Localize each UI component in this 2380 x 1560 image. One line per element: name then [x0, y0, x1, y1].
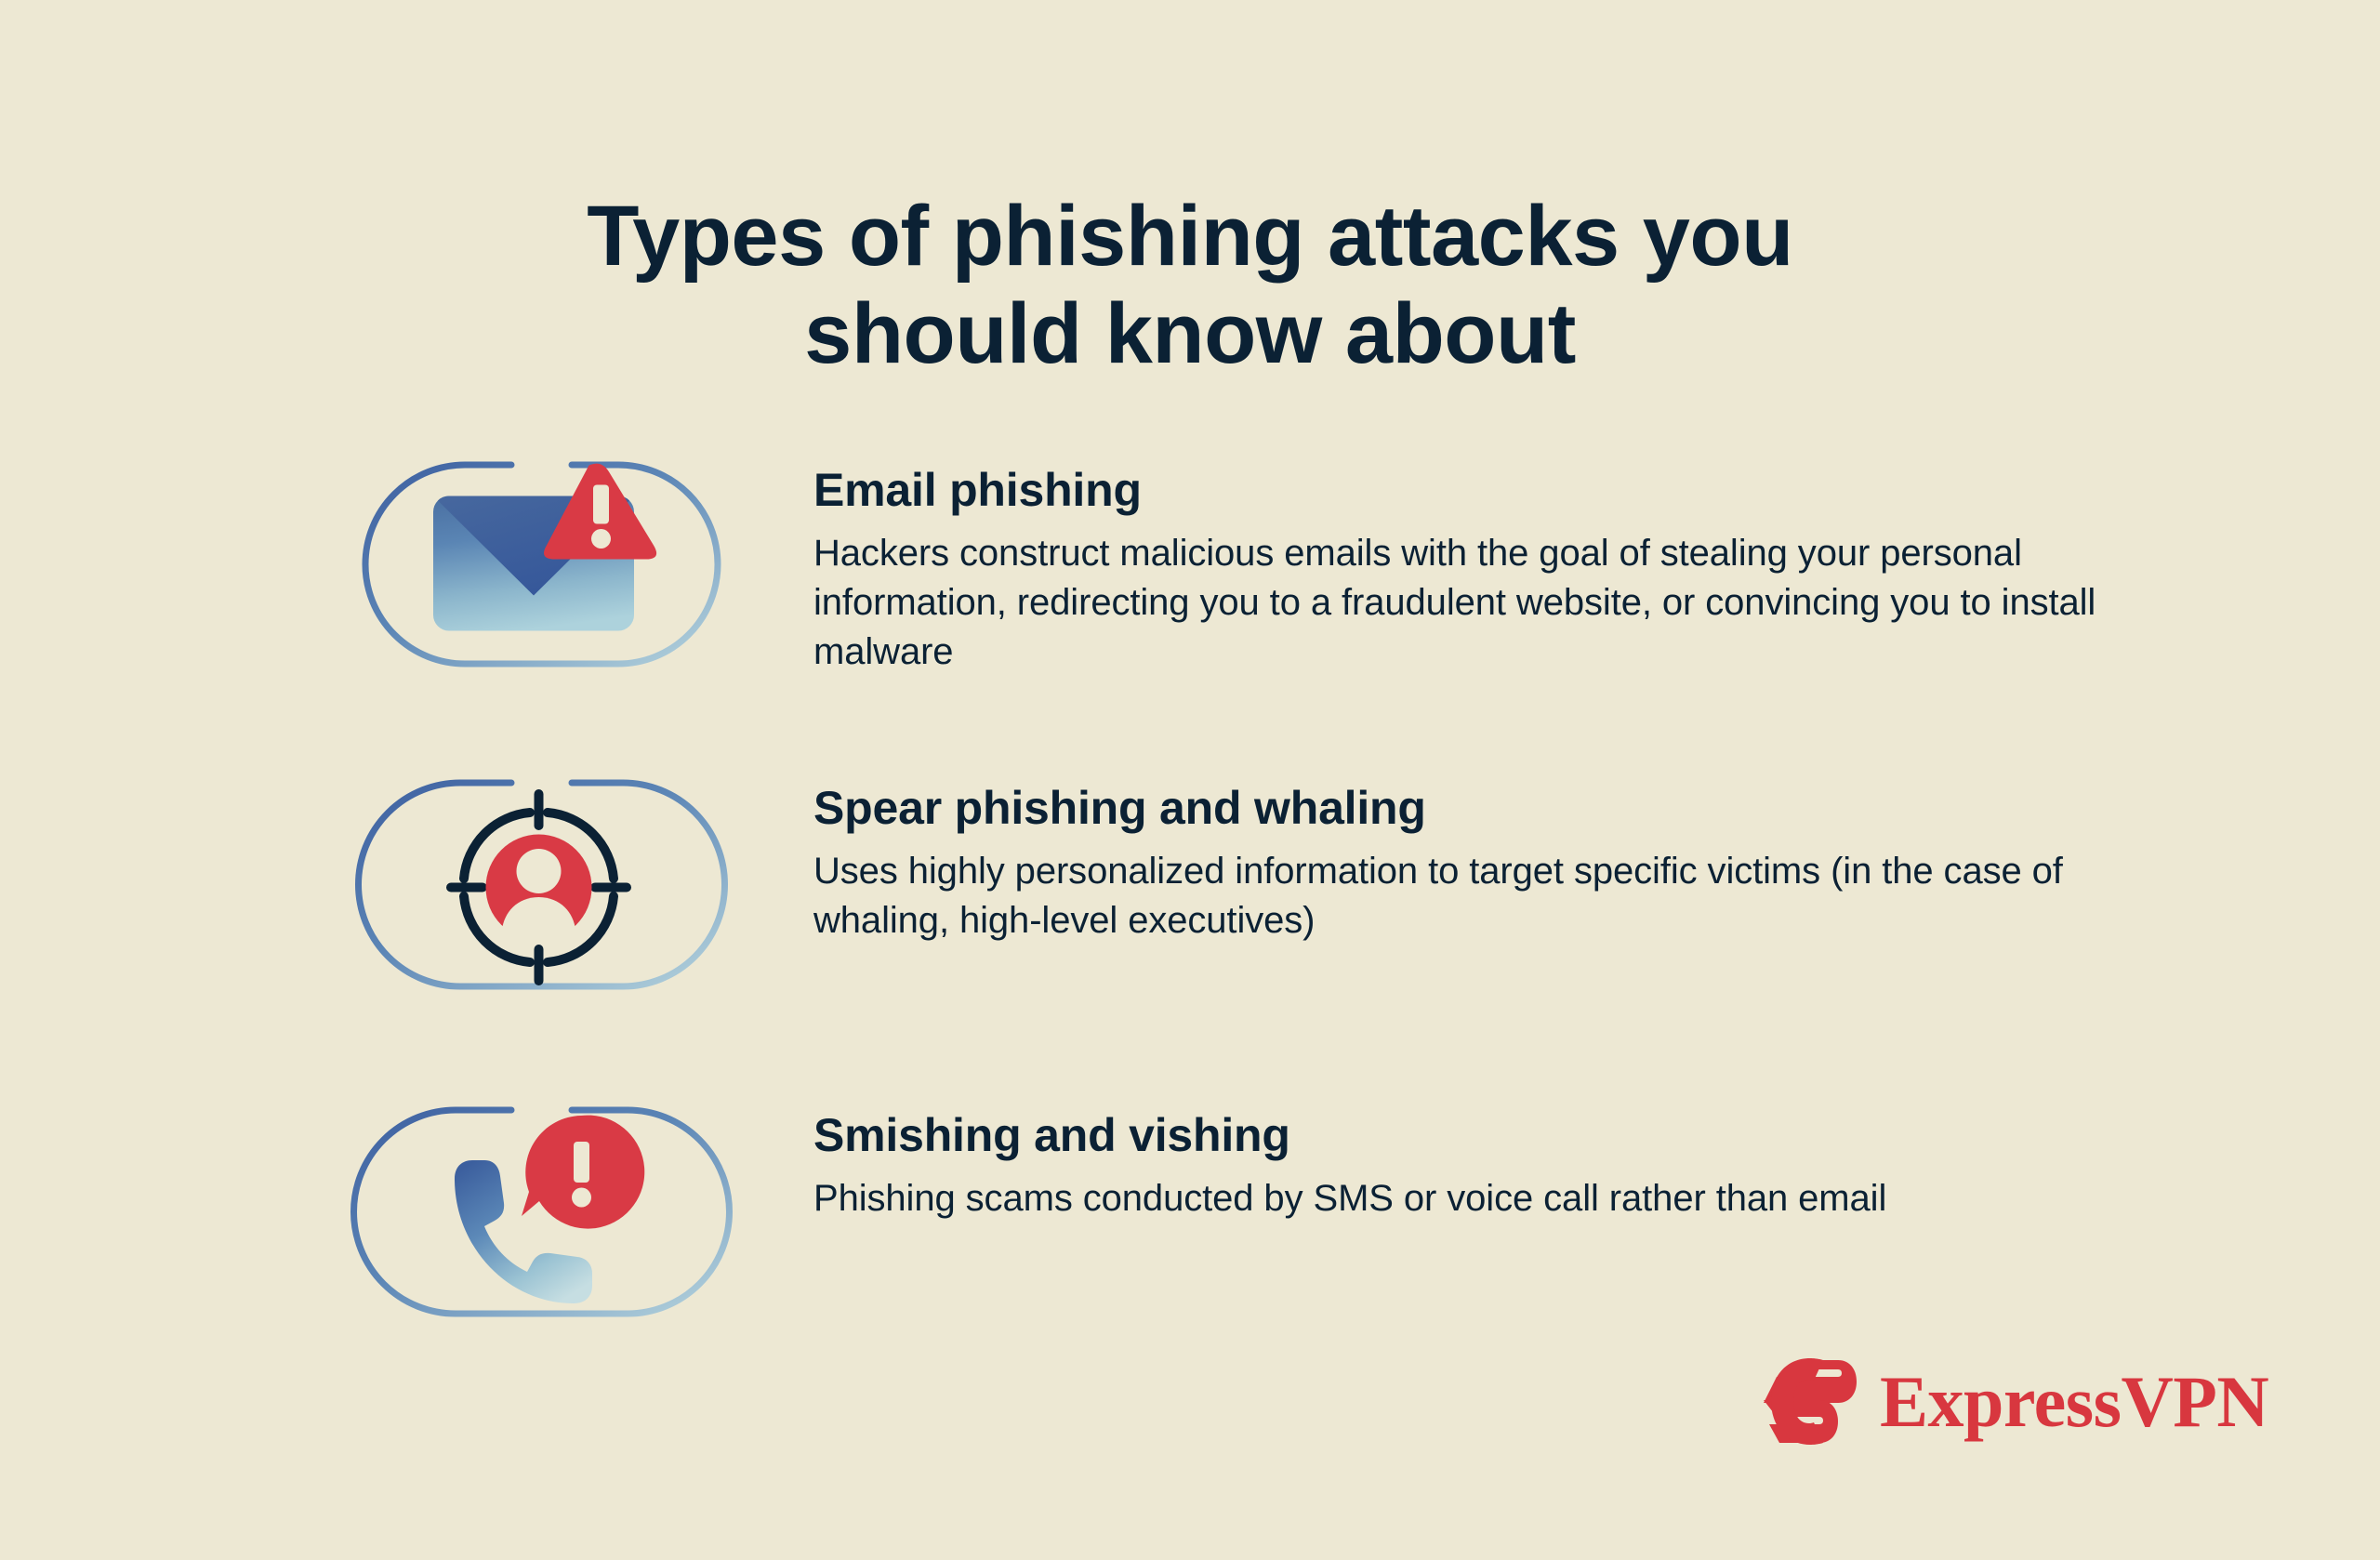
section-description: Hackers construct malicious emails with …: [813, 529, 2134, 678]
phone-handset-with-alert-bubble-art: [358, 1103, 725, 1321]
section-email-phishing: Email phishing Hackers construct malicio…: [358, 457, 2134, 678]
email-warning-icon: [358, 457, 725, 671]
section-heading: Smishing and vishing: [813, 1110, 2134, 1161]
section-spear-phishing-whaling: Spear phishing and whaling Uses highly p…: [358, 775, 2134, 994]
section-description: Phishing scams conducted by SMS or voice…: [813, 1174, 2134, 1223]
section-text: Spear phishing and whaling Uses highly p…: [813, 775, 2134, 945]
page-title: Types of phishing attacks you should kno…: [0, 188, 2380, 383]
section-description: Uses highly personalized information to …: [813, 847, 2134, 945]
page-title-line-2: should know about: [0, 285, 2380, 383]
section-heading: Email phishing: [813, 465, 2134, 516]
target-person-icon: [358, 775, 725, 994]
section-text: Email phishing Hackers construct malicio…: [813, 457, 2134, 678]
crosshair-target-person-art: [358, 775, 725, 994]
page-title-line-1: Types of phishing attacks you: [0, 188, 2380, 285]
expressvpn-wordmark: ExpressVPN: [1880, 1366, 2268, 1438]
section-smishing-vishing: Smishing and vishing Phishing scams cond…: [358, 1103, 2134, 1321]
section-heading: Spear phishing and whaling: [813, 783, 2134, 834]
infographic-page: Types of phishing attacks you should kno…: [0, 0, 2380, 1560]
section-text: Smishing and vishing Phishing scams cond…: [813, 1103, 2134, 1223]
expressvpn-logo: ExpressVPN: [1760, 1353, 2268, 1450]
envelope-with-warning-art: [358, 457, 725, 676]
expressvpn-e-mark-icon: [1760, 1353, 1858, 1450]
phone-alert-icon: [358, 1103, 725, 1321]
